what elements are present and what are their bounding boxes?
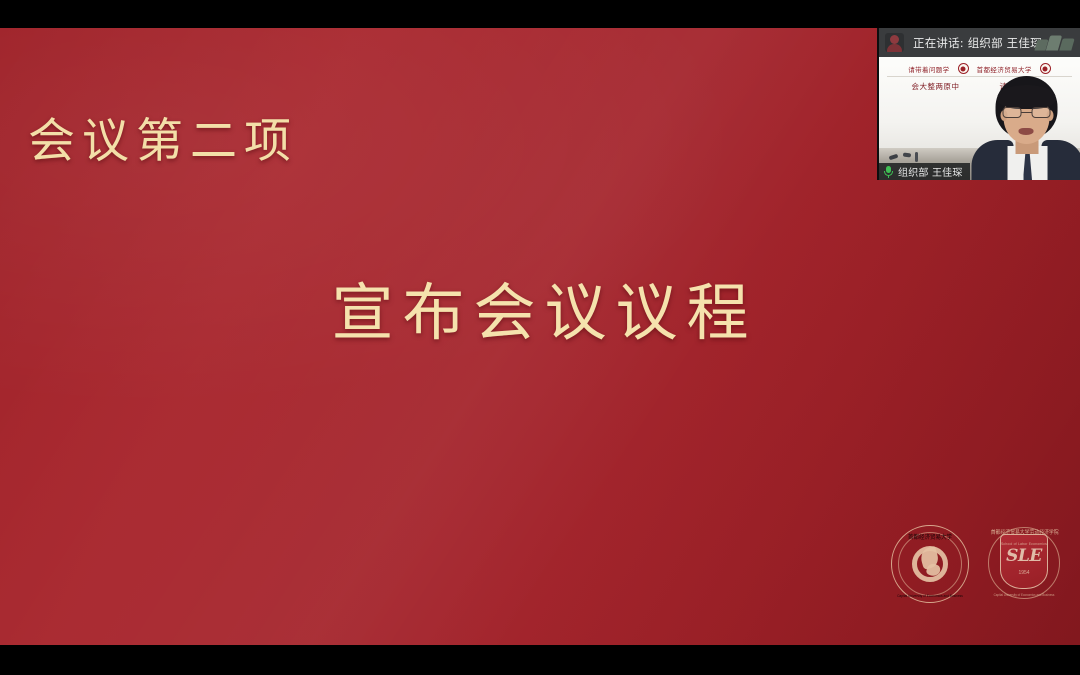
logo-cluster: 首都经济贸易大学 Capital University of Economics… bbox=[891, 525, 1061, 603]
backdrop-row-1: 请带着问题学 首都经济贸易大学 bbox=[885, 63, 1074, 74]
university-seal-name-en: Capital University of Economics and Busi… bbox=[895, 594, 965, 598]
active-speaker-banner: 正在讲话: 组织部 王佳琛: bbox=[879, 28, 1080, 57]
participant-name-label: 组织部 王佳琛 bbox=[898, 164, 963, 179]
slide-title: 宣布会议议程 bbox=[0, 276, 1080, 350]
letterbox-bar-top bbox=[0, 0, 1080, 28]
active-speaker-label: 正在讲话: 组织部 王佳琛: bbox=[913, 35, 1046, 51]
video-call-panel[interactable]: 正在讲话: 组织部 王佳琛: 请带着问题学 首都经济贸易大学 会大整两原中 请带… bbox=[877, 28, 1080, 180]
slide-heading: 会议第二项 bbox=[28, 114, 298, 169]
backdrop-seal-icon-right bbox=[1040, 63, 1051, 74]
university-crest-icon bbox=[912, 546, 948, 582]
school-shield-year: 1954 bbox=[987, 570, 1061, 576]
participant-avatar-icon bbox=[885, 33, 904, 52]
audio-level-icon bbox=[1036, 35, 1073, 50]
backdrop-seal-icon-left bbox=[958, 63, 969, 74]
university-seal-logo: 首都经济贸易大学 Capital University of Economics… bbox=[891, 525, 969, 603]
desk-object-pen-icon bbox=[889, 154, 899, 161]
screen-capture: 会议第二项 宣布会议议程 首都经济贸易大学 Capital University… bbox=[0, 0, 1080, 675]
participant-video-tile[interactable]: 请带着问题学 首都经济贸易大学 会大整两原中 请带着问题学 bbox=[879, 57, 1080, 180]
backdrop-text-right: 首都经济贸易大学 bbox=[977, 64, 1032, 74]
university-seal-name-cn: 首都经济贸易大学 bbox=[894, 532, 966, 541]
school-shield-monogram: SLE bbox=[987, 546, 1061, 566]
backdrop-text-left: 请带着问题学 bbox=[908, 64, 949, 74]
letterbox-bar-bottom bbox=[0, 645, 1080, 675]
participant-name-strip: 组织部 王佳琛 bbox=[879, 163, 970, 180]
school-shield-name-en-outer: Capital University of Economics and Busi… bbox=[991, 593, 1056, 597]
desk-object-paper-icon bbox=[903, 152, 911, 157]
backdrop-text-2-left: 会大整两原中 bbox=[912, 81, 960, 92]
microphone-on-icon bbox=[883, 166, 894, 178]
desk-object-mic-stand-icon bbox=[915, 152, 918, 162]
school-shield-logo: 首都经济贸易大学劳动经济学院 School of Labor Economics… bbox=[987, 525, 1061, 603]
speaker-figure bbox=[973, 76, 1080, 180]
